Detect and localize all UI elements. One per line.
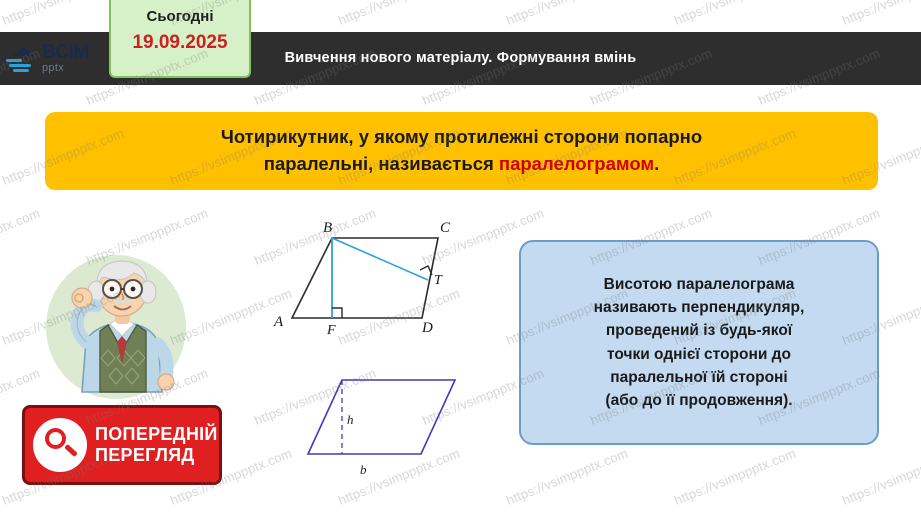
brand-name: BCIM [42,43,89,62]
figure2-label-h: h [347,412,354,427]
figure-parallelogram-hb-svg: h b [290,362,490,492]
watermark-text: https://vsimppptx.com [672,0,798,28]
figure1-label-b: B [323,220,332,236]
definition-banner: Чотирикутник, у якому протилежні сторони… [45,112,878,190]
definition-line-1: Чотирикутник, у якому протилежні сторони… [221,124,702,151]
brand-logo-text: BCIM pptx [42,43,89,74]
figure1-label-d: D [421,320,433,336]
info-box: Висотою паралелограма називають перпенди… [519,240,879,445]
professor-illustration [42,232,192,402]
definition-line-2: паралельні, називається паралелограмом. [264,151,659,178]
info-line-6: (або до її продовження). [605,389,792,412]
definition-highlight: паралелограмом [499,153,654,174]
info-line-5: паралельної їй стороні [610,366,787,389]
info-line-2: називають перпендикуляр, [594,296,805,319]
watermark-text: https://vsimppptx.com [0,0,126,28]
figure2-label-b: b [360,462,367,477]
figure1-label-f: F [326,323,336,338]
figure1-label-a: A [273,314,284,330]
magnifier-icon [33,418,87,472]
definition-line-2-suffix: . [654,153,659,174]
preview-badge-text: ПОПЕРЕДНІЙ ПЕРЕГЛЯД [95,424,218,465]
preview-line-2: ПЕРЕГЛЯД [95,445,218,466]
watermark-text: https://vsimppptx.com [0,205,42,268]
watermark-text: https://vsimppptx.com [504,0,630,28]
watermark-text: https://vsimppptx.com [336,0,462,28]
professor-illustration-svg [42,232,192,402]
figure-parallelogram-abcd: B C T A F D [270,218,500,343]
date-badge: Сьогодні 19.09.2025 [109,0,251,78]
info-line-4: точки однієї сторони до [607,343,791,366]
figure-parallelogram-abcd-svg: B C T A F D [270,218,500,343]
figure-parallelogram-hb: h b [290,362,490,492]
brand-logo: BCIM pptx [6,36,116,80]
preview-badge[interactable]: ПОПЕРЕДНІЙ ПЕРЕГЛЯД [22,405,222,485]
info-line-3: проведений із будь-якої [606,319,792,342]
preview-line-1: ПОПЕРЕДНІЙ [95,424,218,445]
definition-line-2-prefix: паралельні, називається [264,153,499,174]
date-value: 19.09.2025 [111,32,249,54]
figure1-label-t: T [434,273,443,288]
watermark-text: https://vsimppptx.com [840,0,921,28]
slide: Вивчення нового матеріалу. Формування вм… [0,0,921,518]
watermark-text: https://vsimppptx.com [672,445,798,508]
watermark-text: https://vsimppptx.com [840,445,921,508]
figure1-label-c: C [440,220,451,236]
graduation-cap-icon [6,43,40,73]
brand-extension: pptx [42,63,89,74]
info-line-1: Висотою паралелограма [604,273,795,296]
date-label: Сьогодні [111,8,249,25]
watermark-text: https://vsimppptx.com [504,445,630,508]
